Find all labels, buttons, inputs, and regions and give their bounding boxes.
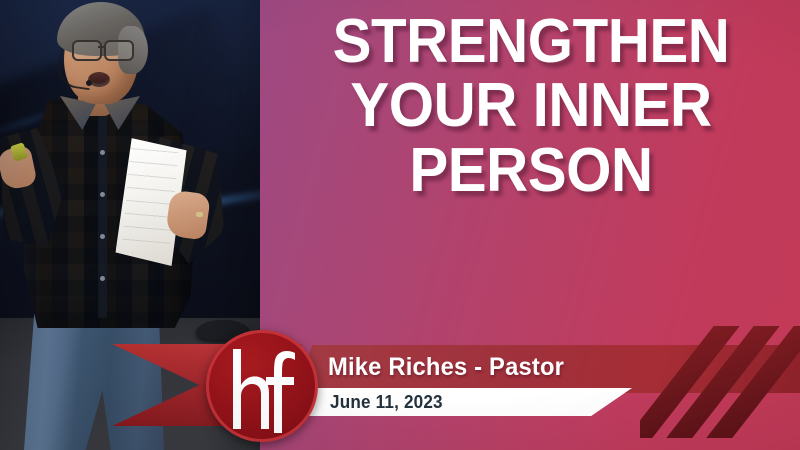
wedding-ring: [196, 212, 203, 217]
shirt-placket: [98, 112, 107, 318]
hf-logo-icon: [209, 333, 315, 439]
speaker-name: Mike Riches - Pastor: [328, 353, 564, 382]
hf-logo: [206, 330, 318, 442]
slide-canvas: STRENGTHEN YOUR INNER PERSON Mike Riches…: [0, 0, 800, 450]
headset-mic-tip: [86, 80, 92, 86]
glasses-lens-right: [104, 40, 134, 61]
title-line-2: YOUR INNER: [278, 74, 784, 138]
shirt-button: [100, 192, 105, 197]
title-line-3: PERSON: [278, 139, 784, 203]
date-bar: June 11, 2023: [292, 388, 632, 416]
title-line-1: STRENGTHEN: [278, 10, 784, 74]
sermon-date: June 11, 2023: [330, 392, 443, 413]
shirt-button: [100, 276, 105, 281]
lower-third-banner: Mike Riches - Pastor June 11, 2023: [0, 318, 800, 450]
speaker-name-row: Mike Riches - Pastor: [300, 344, 720, 390]
shirt-button: [100, 234, 105, 239]
sermon-title: STRENGTHEN YOUR INNER PERSON: [262, 10, 800, 203]
shirt-button: [100, 150, 105, 155]
